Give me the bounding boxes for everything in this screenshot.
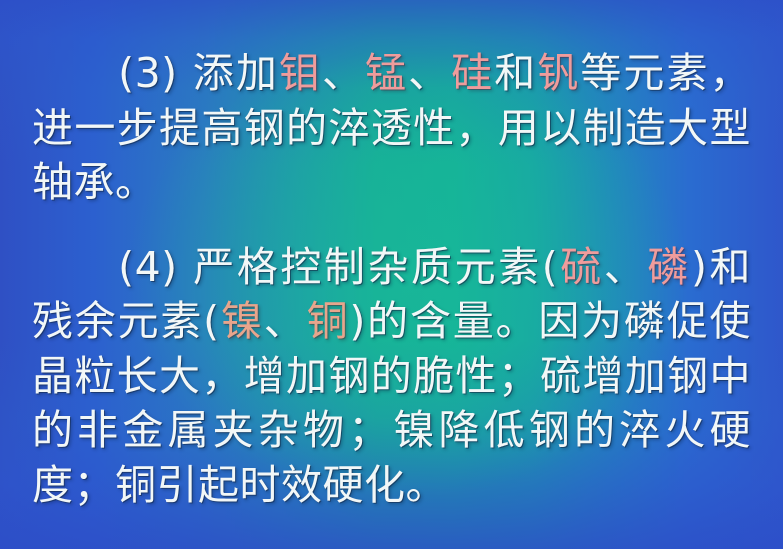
paragraph-4: (4) 严格控制杂质元素(硫、磷)和残余元素(镍、铜)的含量。因为磷促使晶粒长大… — [32, 240, 751, 513]
paragraph-4-text-1: 严格控制杂质元素( — [193, 243, 558, 291]
paragraph-3-conj: 和 — [494, 49, 537, 97]
paragraph-3: (3) 添加钼、锰、硅和钒等元素，进一步提高钢的淬透性，用以制造大型轴承。 — [32, 46, 751, 210]
slide-text-body: (3) 添加钼、锰、硅和钒等元素，进一步提高钢的淬透性，用以制造大型轴承。 (4… — [0, 0, 783, 549]
paragraph-3-text-1: 添加 — [193, 49, 279, 97]
paragraph-3-sep-1: 、 — [322, 49, 365, 97]
paragraph-3-sep-2: 、 — [408, 49, 451, 97]
paragraph-4-sep-1: 、 — [604, 243, 648, 291]
element-molybdenum: 钼 — [279, 49, 322, 97]
paragraph-4-sep-2: 、 — [264, 297, 307, 345]
element-copper: 铜 — [307, 297, 350, 345]
element-phosphorus: 磷 — [647, 243, 691, 291]
element-vanadium: 钒 — [537, 49, 580, 97]
element-nickel: 镍 — [220, 297, 264, 345]
paragraph-4-marker: (4) — [118, 243, 193, 291]
element-manganese: 锰 — [365, 49, 408, 97]
slide-canvas: (3) 添加钼、锰、硅和钒等元素，进一步提高钢的淬透性，用以制造大型轴承。 (4… — [0, 0, 783, 549]
element-silicon: 硅 — [451, 49, 494, 97]
element-sulfur: 硫 — [558, 243, 604, 291]
paragraph-3-marker: (3) — [118, 49, 193, 97]
